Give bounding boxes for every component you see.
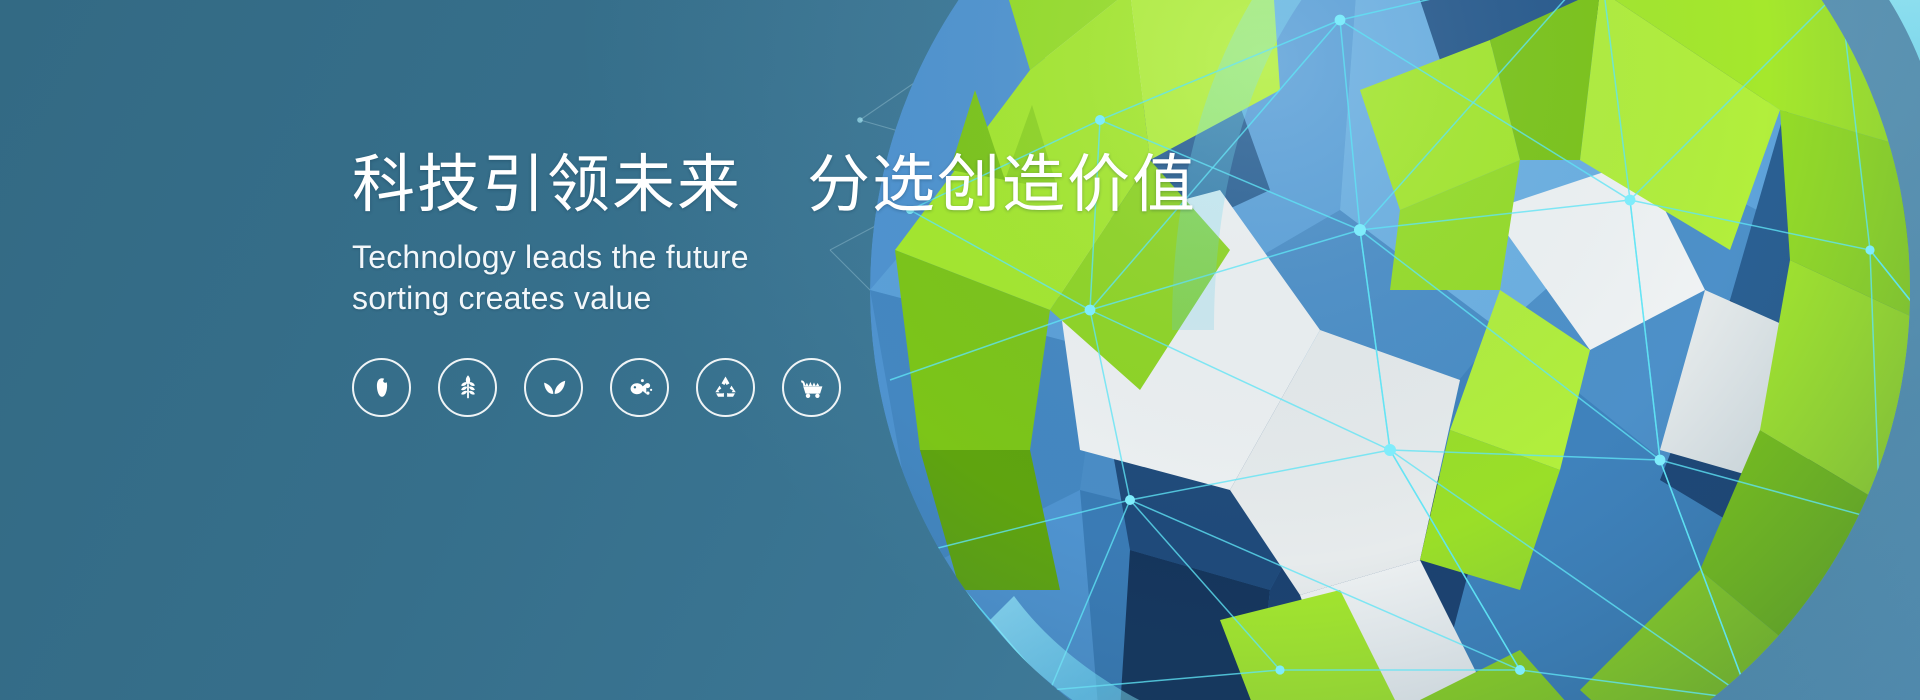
fish-icon[interactable] bbox=[610, 358, 669, 417]
subtitle-line-1: Technology leads the future bbox=[352, 237, 1132, 278]
seed-icon[interactable] bbox=[352, 358, 411, 417]
hero-banner: 科技引领未来 分选创造价值 Technology leads the futur… bbox=[0, 0, 1920, 700]
banner-subtitle: Technology leads the future sorting crea… bbox=[352, 237, 1132, 319]
recycle-icon[interactable] bbox=[696, 358, 755, 417]
wheat-icon[interactable] bbox=[438, 358, 497, 417]
page-title: 科技引领未来 分选创造价值 bbox=[352, 150, 1132, 221]
subtitle-line-2: sorting creates value bbox=[352, 278, 1132, 319]
leaf-icon[interactable] bbox=[524, 358, 583, 417]
banner-content: 科技引领未来 分选创造价值 Technology leads the futur… bbox=[352, 150, 1132, 417]
industry-icon-row bbox=[352, 358, 1132, 417]
mining-cart-icon[interactable] bbox=[782, 358, 841, 417]
